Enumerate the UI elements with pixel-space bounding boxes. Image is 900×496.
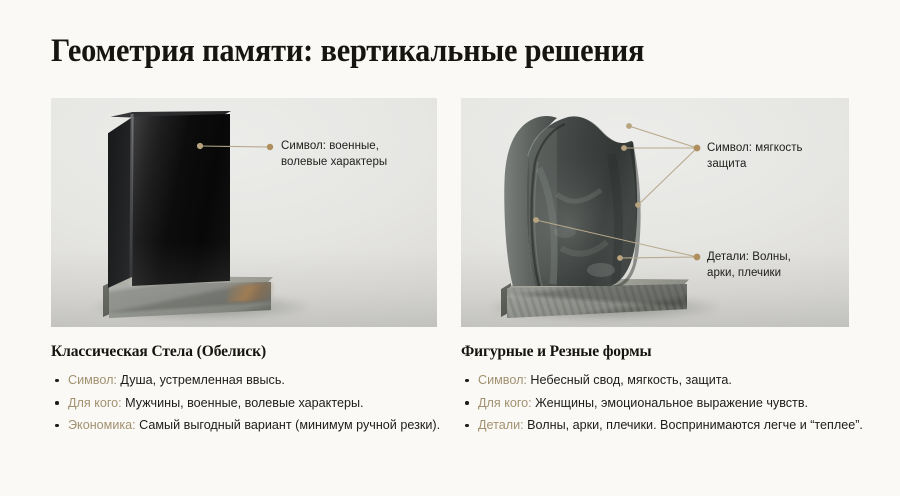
bullet-text: Волны, арки, плечики. Воспринимаются лег… [524, 418, 863, 432]
annotation-label-right-symbol: Символ: мягкость защита [707, 141, 803, 172]
bullet-text: Душа, устремленная ввысь. [117, 373, 285, 387]
bullet-list-right: Символ: Небесный свод, мягкость, защита.… [461, 371, 881, 435]
monument-illustration-figured [461, 98, 849, 327]
column-heading-left: Классическая Стела (Обелиск) [51, 343, 451, 361]
bullet-list-left: Символ: Душа, устремленная ввысь. Для ко… [51, 371, 451, 435]
bullet-lead: Для кого: [68, 396, 122, 410]
figured-stone-shape [461, 98, 849, 327]
page-title: Геометрия памяти: вертикальные решения [51, 33, 644, 70]
bullet-lead: Экономика: [68, 418, 136, 432]
base-ochre-vein [226, 282, 273, 302]
list-item: Детали: Волны, арки, плечики. Воспринима… [461, 416, 881, 435]
list-item: Экономика: Самый выгодный вариант (миним… [51, 416, 451, 435]
monument-illustration-classic [51, 98, 437, 327]
slide-root: Геометрия памяти: вертикальные решения [0, 0, 900, 496]
bullet-text: Мужчины, военные, волевые характеры. [122, 396, 364, 410]
annotation-label-right-details: Детали: Волны, арки, плечики [707, 250, 791, 281]
bullet-text: Самый выгодный вариант (минимум ручной р… [136, 418, 440, 432]
list-item: Для кого: Женщины, эмоциональное выражен… [461, 394, 881, 413]
bullet-lead: Детали: [478, 418, 524, 432]
list-item: Символ: Небесный свод, мягкость, защита. [461, 371, 881, 390]
bullet-lead: Символ: [478, 373, 527, 387]
text-column-classic-stele: Классическая Стела (Обелиск) Символ: Душ… [51, 343, 451, 439]
image-panel-figured-forms [461, 98, 849, 327]
bullet-text: Женщины, эмоциональное выражение чувств. [532, 396, 808, 410]
text-column-figured-forms: Фигурные и Резные формы Символ: Небесный… [461, 343, 881, 439]
column-heading-right: Фигурные и Резные формы [461, 343, 881, 361]
list-item: Символ: Душа, устремленная ввысь. [51, 371, 451, 390]
list-item: Для кого: Мужчины, военные, волевые хара… [51, 394, 451, 413]
bullet-lead: Символ: [68, 373, 117, 387]
stele-gloss-highlight [132, 114, 230, 286]
bullet-text: Небесный свод, мягкость, защита. [527, 373, 732, 387]
bullet-lead: Для кого: [478, 396, 532, 410]
annotation-label-left-symbol: Символ: военные, волевые характеры [281, 139, 387, 170]
image-panel-classic-stele [51, 98, 437, 327]
